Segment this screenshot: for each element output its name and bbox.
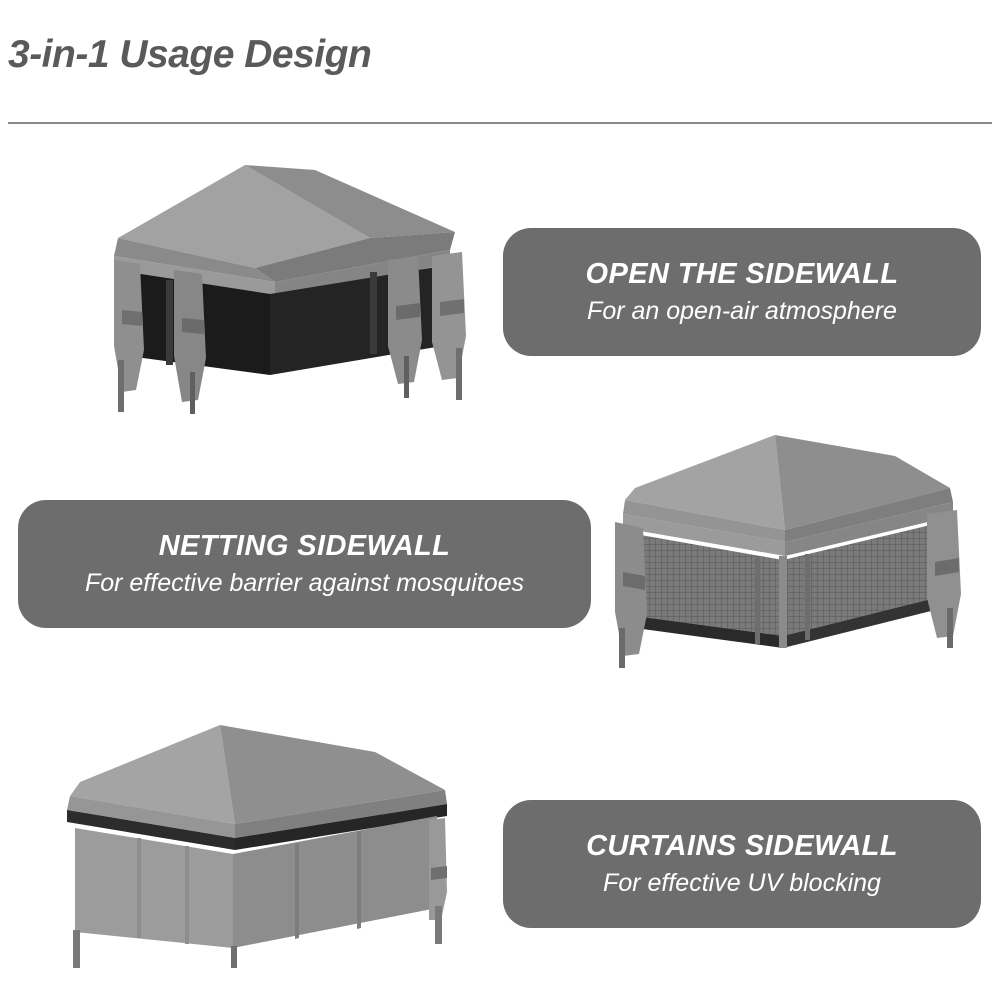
- header-divider: [8, 122, 992, 124]
- callout-subtext: For an open-air atmosphere: [587, 297, 897, 326]
- callout-curtains-sidewall: CURTAINS SIDEWALL For effective UV block…: [503, 800, 981, 928]
- gazebo-netting-sidewall-illustration: [595, 430, 980, 675]
- callout-netting-sidewall: NETTING SIDEWALL For effective barrier a…: [18, 500, 591, 628]
- callout-headline: NETTING SIDEWALL: [159, 530, 451, 563]
- page-title: 3-in-1 Usage Design: [8, 33, 371, 77]
- callout-subtext: For effective barrier against mosquitoes: [85, 569, 524, 598]
- callout-open-the-sidewall: OPEN THE SIDEWALL For an open-air atmosp…: [503, 228, 981, 356]
- callout-headline: CURTAINS SIDEWALL: [586, 830, 898, 863]
- gazebo-open-sidewall-illustration: [70, 160, 500, 420]
- callout-headline: OPEN THE SIDEWALL: [586, 258, 899, 291]
- gazebo-curtains-sidewall-illustration: [45, 720, 485, 975]
- callout-subtext: For effective UV blocking: [603, 869, 881, 898]
